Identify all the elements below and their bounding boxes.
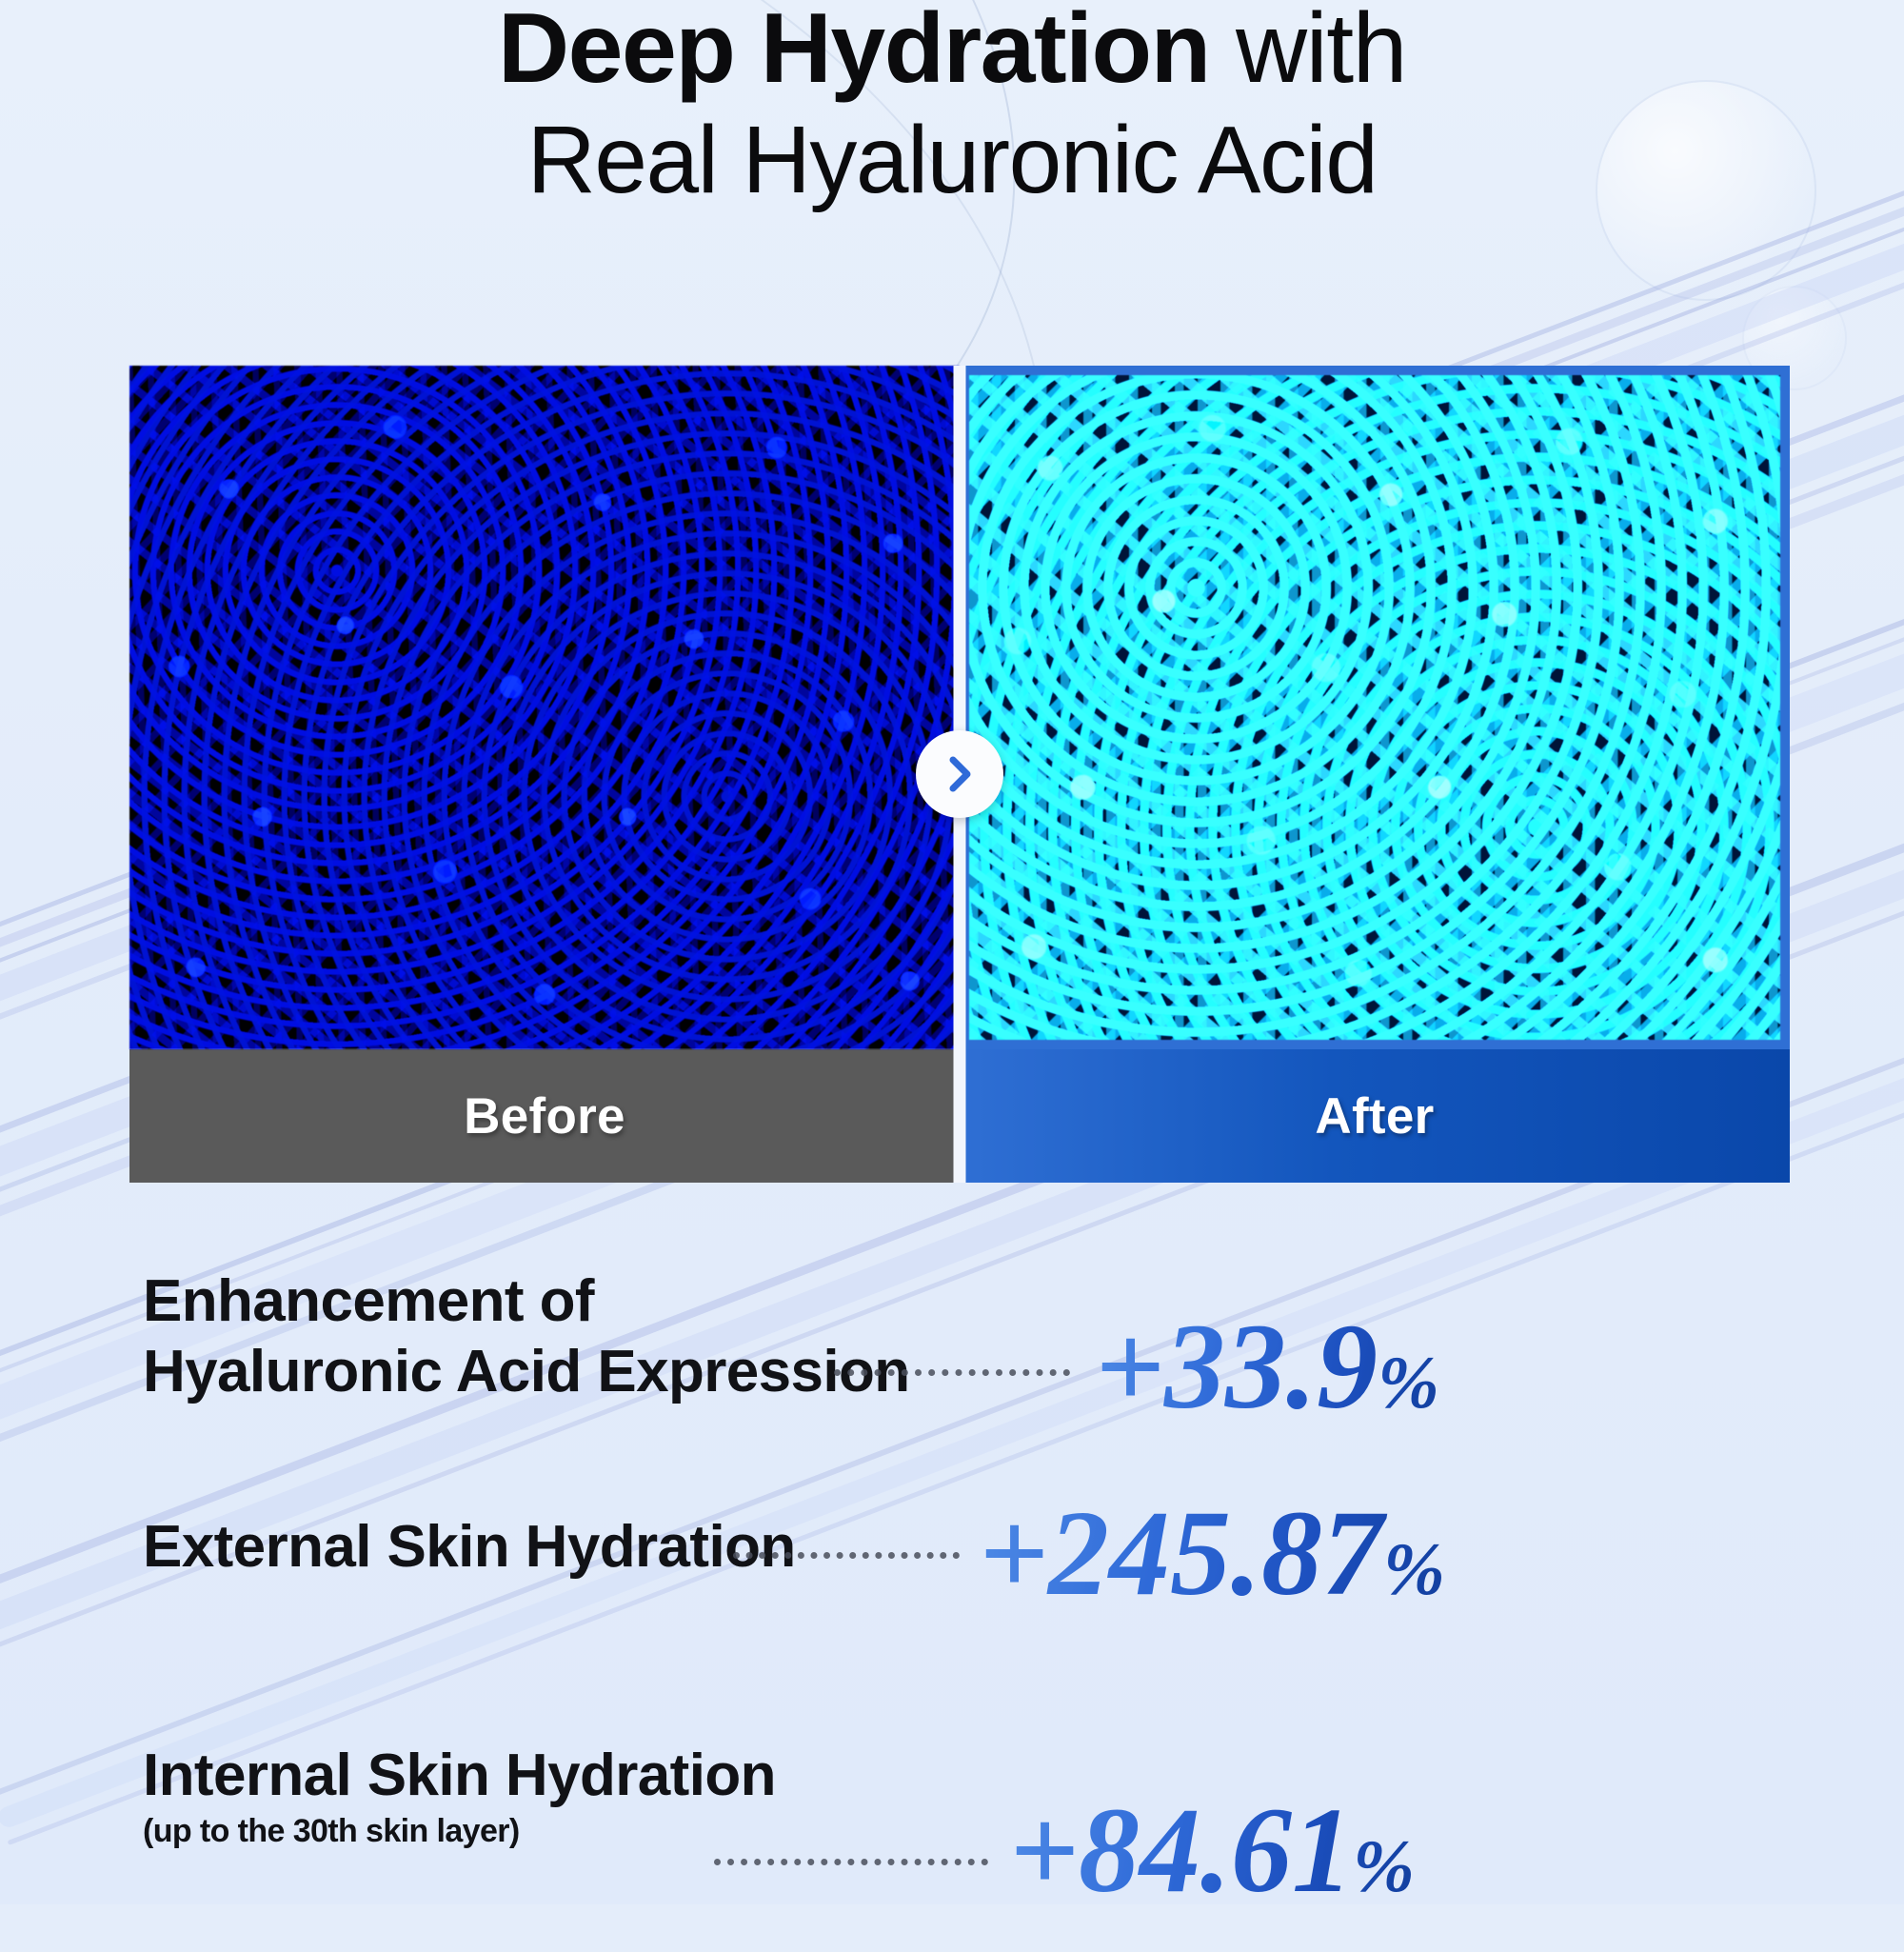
- stat-value-number: +84.61: [1009, 1783, 1353, 1918]
- stat-row: External Skin Hydration +245.87%: [143, 1495, 1847, 1733]
- after-panel[interactable]: After: [960, 366, 1790, 1183]
- before-after-comparison[interactable]: Before After: [129, 366, 1790, 1183]
- chevron-right-icon[interactable]: [916, 730, 1003, 818]
- stat-value-unit: %: [1378, 1341, 1439, 1424]
- title-line-2: Real Hyaluronic Acid: [0, 105, 1904, 215]
- leader-dots: [733, 1552, 960, 1559]
- stat-row: Internal Skin Hydration (up to the 30th …: [143, 1733, 1847, 1952]
- stats-list: Enhancement of Hyaluronic Acid Expressio…: [143, 1266, 1847, 1952]
- after-label: After: [960, 1049, 1790, 1183]
- stat-label: External Skin Hydration: [143, 1512, 796, 1583]
- stat-label-line1: External Skin Hydration: [143, 1512, 796, 1583]
- stat-row: Enhancement of Hyaluronic Acid Expressio…: [143, 1266, 1847, 1495]
- title-line-1: Deep Hydration with: [0, 0, 1904, 105]
- before-image: [129, 366, 960, 1049]
- leader-dots: [834, 1369, 1070, 1376]
- after-image: [960, 366, 1790, 1049]
- title-bold: Deep Hydration: [498, 0, 1210, 104]
- after-image-texture: [969, 375, 1780, 1040]
- before-panel[interactable]: Before: [129, 366, 960, 1183]
- stat-value-unit: %: [1353, 1824, 1415, 1907]
- stat-value-number: +245.87: [979, 1485, 1383, 1621]
- leader-dots: [714, 1859, 988, 1865]
- stat-label-line2: Hyaluronic Acid Expression: [143, 1337, 910, 1407]
- stat-value: +84.61%: [1009, 1781, 1415, 1921]
- stat-label-line1: Enhancement of: [143, 1266, 910, 1337]
- stat-value-unit: %: [1383, 1527, 1445, 1610]
- title-rest: with: [1210, 0, 1406, 104]
- stat-label: Enhancement of Hyaluronic Acid Expressio…: [143, 1266, 910, 1407]
- stat-value: +245.87%: [979, 1484, 1445, 1623]
- stat-label-line1: Internal Skin Hydration: [143, 1741, 776, 1811]
- before-label: Before: [129, 1049, 960, 1183]
- stat-value-number: +33.9: [1095, 1299, 1378, 1434]
- stat-sublabel: (up to the 30th skin layer): [143, 1811, 776, 1851]
- page-title: Deep Hydration with Real Hyaluronic Acid: [0, 0, 1904, 215]
- stat-value: +33.9%: [1095, 1297, 1439, 1437]
- stat-label: Internal Skin Hydration (up to the 30th …: [143, 1741, 776, 1851]
